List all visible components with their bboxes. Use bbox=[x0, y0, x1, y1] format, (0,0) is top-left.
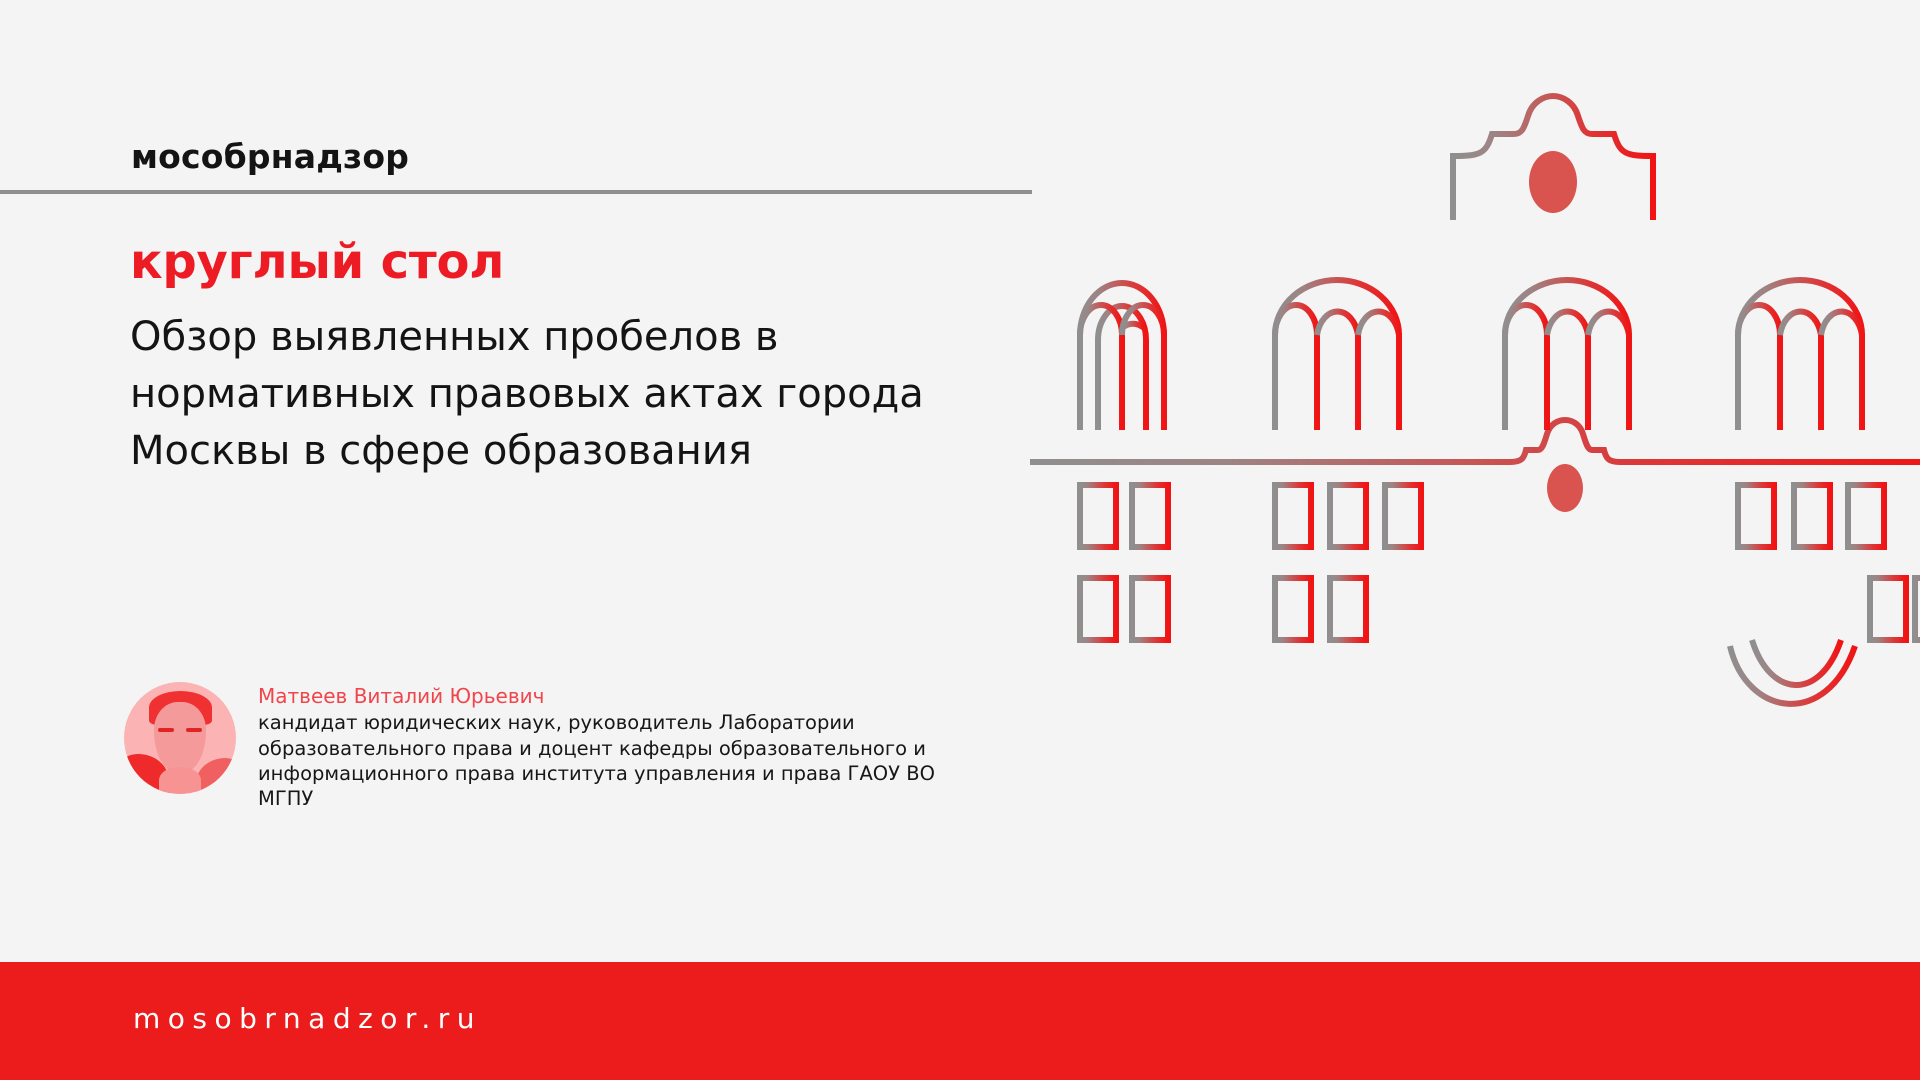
avatar-brow-right bbox=[186, 728, 203, 732]
avatar-brow-left bbox=[158, 728, 175, 732]
speaker-role: кандидат юридических наук, руководитель … bbox=[258, 710, 958, 811]
page-title-line-1: Обзор выявленных пробелов в bbox=[130, 309, 970, 366]
page-title: Обзор выявленных пробелов в нормативных … bbox=[130, 309, 970, 479]
avatar-face-shape bbox=[154, 702, 206, 771]
speaker-text: Матвеев Виталий Юрьевич кандидат юридиче… bbox=[258, 682, 958, 812]
avatar-collar bbox=[159, 767, 202, 794]
brand-logo-text: мособрнадзор bbox=[131, 137, 409, 176]
speaker-role-line-4: МГПУ bbox=[258, 786, 958, 811]
presentation-slide: мособрнадзор круглый стол Обзор выявленн… bbox=[0, 0, 1920, 1080]
page-title-line-3: Москвы в сфере образования bbox=[130, 423, 970, 480]
mid-pediment-medallion bbox=[1547, 464, 1583, 512]
avatar-shoulder-right bbox=[196, 758, 236, 794]
speaker-block: Матвеев Виталий Юрьевич кандидат юридиче… bbox=[124, 682, 958, 812]
speaker-role-line-3: информационного права института управлен… bbox=[258, 761, 958, 786]
footer-website-url[interactable]: mosobrnadzor.ru bbox=[133, 1002, 482, 1035]
page-title-line-2: нормативных правовых актах города bbox=[130, 366, 970, 423]
speaker-role-line-2: образовательного права и доцент кафедры … bbox=[258, 736, 958, 761]
building-illustration bbox=[1010, 30, 1920, 720]
speaker-role-line-1: кандидат юридических наук, руководитель … bbox=[258, 710, 958, 735]
event-type-eyebrow: круглый стол bbox=[130, 237, 504, 287]
pediment-medallion bbox=[1529, 151, 1577, 213]
speaker-name: Матвеев Виталий Юрьевич bbox=[258, 684, 958, 708]
avatar bbox=[124, 682, 236, 794]
header-divider bbox=[0, 190, 1032, 194]
